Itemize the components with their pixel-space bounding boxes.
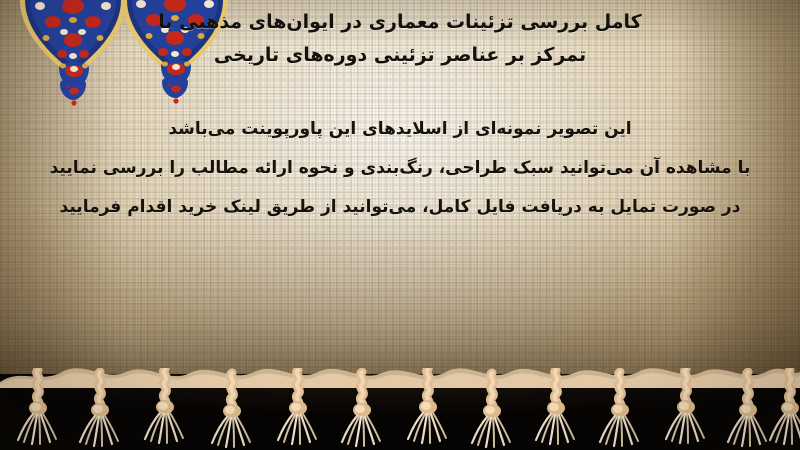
slide-canvas: کامل بررسی تزئینات معماری در ایوان‌های م…: [0, 0, 800, 450]
carpet-fringe: [0, 368, 800, 450]
slide-title: کامل بررسی تزئینات معماری در ایوان‌های م…: [0, 6, 800, 72]
slide-body-line-1: این تصویر نمونه‌ای از اسلایدهای این پاور…: [0, 110, 800, 149]
slide-body-line-3: در صورت تمایل به دریافت فایل کامل، می‌تو…: [0, 188, 800, 227]
slide-title-line-1: کامل بررسی تزئینات معماری در ایوان‌های م…: [0, 6, 800, 39]
slide-body: این تصویر نمونه‌ای از اسلایدهای این پاور…: [0, 110, 800, 227]
slide-body-line-2: با مشاهده آن می‌توانید سبک طراحی، رنگ‌بن…: [0, 149, 800, 188]
slide-title-line-2: تمرکز بر عناصر تزئینی دوره‌های تاریخی: [0, 39, 800, 72]
